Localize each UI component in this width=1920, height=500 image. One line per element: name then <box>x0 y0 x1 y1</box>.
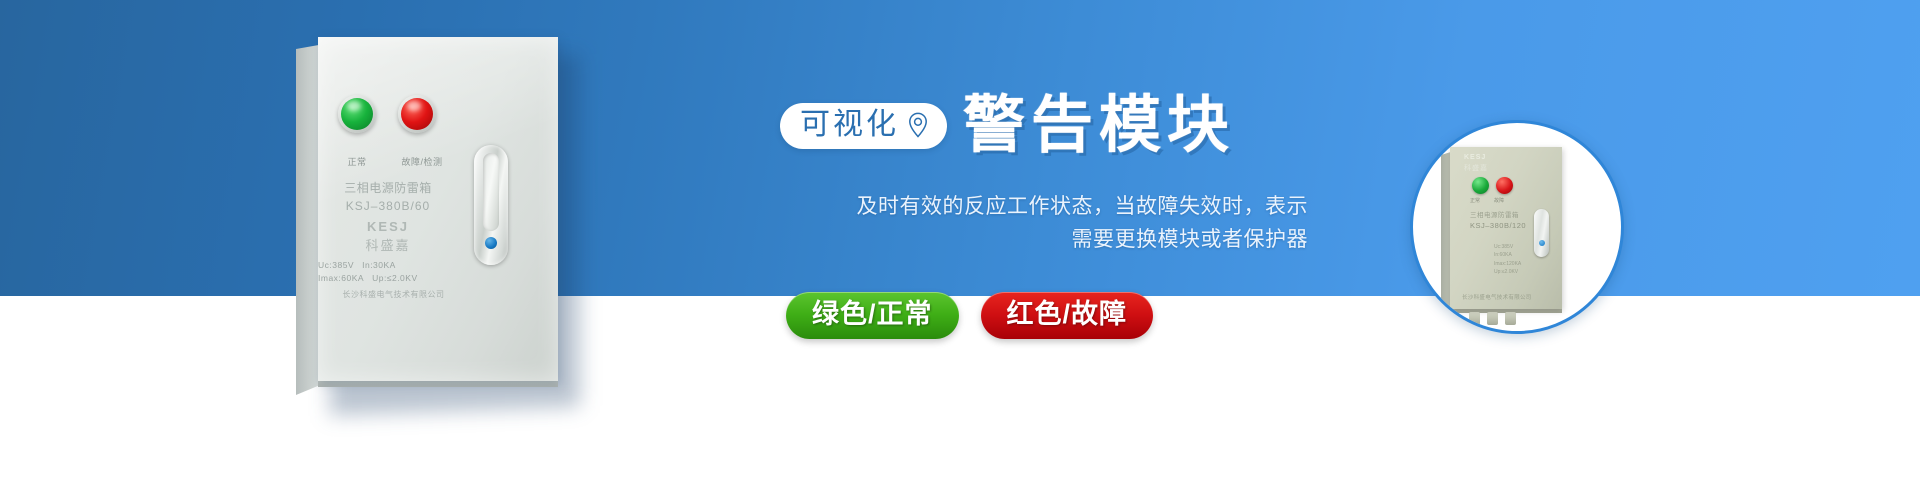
inset-product-image: KESJ 科盛嘉 正常 故障 三相电源防雷箱 KSJ–380B/120 Uc:3… <box>1441 147 1573 325</box>
inset-latch-keyhole-icon <box>1539 240 1545 246</box>
banner-text-block: 可视化 警告模块 及时有效的反应工作状态，当故障失效时，表示 需要更换模块或者保… <box>780 95 1340 395</box>
inset-led-green <box>1472 177 1489 194</box>
inset-led-label-normal: 正常 <box>1470 197 1480 204</box>
banner-subtitle: 及时有效的反应工作状态，当故障失效时，表示 需要更换模块或者保护器 <box>780 191 1308 256</box>
status-badge-normal: 绿色/正常 <box>786 292 959 339</box>
visualization-badge: 可视化 <box>780 103 947 149</box>
latch-keyhole-icon <box>485 237 497 249</box>
inset-spec-uc: Uc:385V <box>1494 243 1521 251</box>
inset-brand-latin: KESJ <box>1464 154 1486 161</box>
led-indicator-red <box>398 95 436 133</box>
page-title: 警告模块 <box>963 95 1235 157</box>
inset-spec-in: In:60KA <box>1494 251 1521 259</box>
led-bulb <box>401 98 433 130</box>
product-company-name: 长沙科盛电气技术有限公司 <box>306 289 481 300</box>
inset-front-panel: KESJ 科盛嘉 正常 故障 三相电源防雷箱 KSJ–380B/120 Uc:3… <box>1450 147 1562 309</box>
spec-in: In:30KA <box>362 259 396 272</box>
headline-row: 可视化 警告模块 <box>780 95 1340 157</box>
product-spec-block: Uc:385V In:30KA Imax:60KA Up:≤2.0KV <box>318 259 468 285</box>
led-bulb <box>341 98 373 130</box>
visualization-badge-label: 可视化 <box>800 110 899 140</box>
inset-door-latch <box>1534 209 1549 257</box>
product-nameplate-model: KSJ–380B/60 <box>318 199 458 213</box>
subtitle-line-1: 及时有效的反应工作状态，当故障失效时，表示 <box>780 191 1308 224</box>
location-pin-icon <box>907 112 929 138</box>
spec-up: Up:≤2.0KV <box>372 272 418 285</box>
spec-uc: Uc:385V <box>318 259 354 272</box>
inset-nameplate-title: 三相电源防雷箱 <box>1470 209 1519 219</box>
product-inset-circle: KESJ 科盛嘉 正常 故障 三相电源防雷箱 KSJ–380B/120 Uc:3… <box>1410 120 1624 334</box>
led-indicator-green <box>338 95 376 133</box>
product-nameplate-title: 三相电源防雷箱 <box>318 179 458 196</box>
door-latch-handle <box>474 145 508 265</box>
subtitle-line-2: 需要更换模块或者保护器 <box>780 224 1308 257</box>
led-label-normal: 正常 <box>326 155 388 168</box>
inset-led-label-fault: 故障 <box>1494 197 1504 204</box>
main-product-image: 正常 故障/检测 三相电源防雷箱 KSJ–380B/60 KESJ 科盛嘉 Uc… <box>296 37 596 417</box>
product-brand-chinese: 科盛嘉 <box>318 235 458 254</box>
inset-brand-chinese: 科盛嘉 <box>1464 163 1488 173</box>
inset-cable-glands <box>1469 312 1516 325</box>
product-brand-latin: KESJ <box>318 219 458 234</box>
inset-nameplate-model: KSJ–380B/120 <box>1470 221 1526 230</box>
led-label-fault: 故障/检测 <box>382 155 462 168</box>
inset-spec-block: Uc:385V In:60KA Imax:120KA Up:≤2.0KV <box>1494 243 1521 276</box>
inset-spec-up: Up:≤2.0KV <box>1494 268 1521 276</box>
status-badge-group: 绿色/正常 红色/故障 <box>780 292 1340 339</box>
inset-led-red <box>1496 177 1513 194</box>
product-banner: 正常 故障/检测 三相电源防雷箱 KSJ–380B/60 KESJ 科盛嘉 Uc… <box>0 0 1920 500</box>
status-badge-fault: 红色/故障 <box>981 292 1154 339</box>
spec-imax: Imax:60KA <box>318 272 364 285</box>
inset-spec-imax: Imax:120KA <box>1494 260 1521 268</box>
inset-company-name: 长沙科盛电气技术有限公司 <box>1462 293 1532 301</box>
